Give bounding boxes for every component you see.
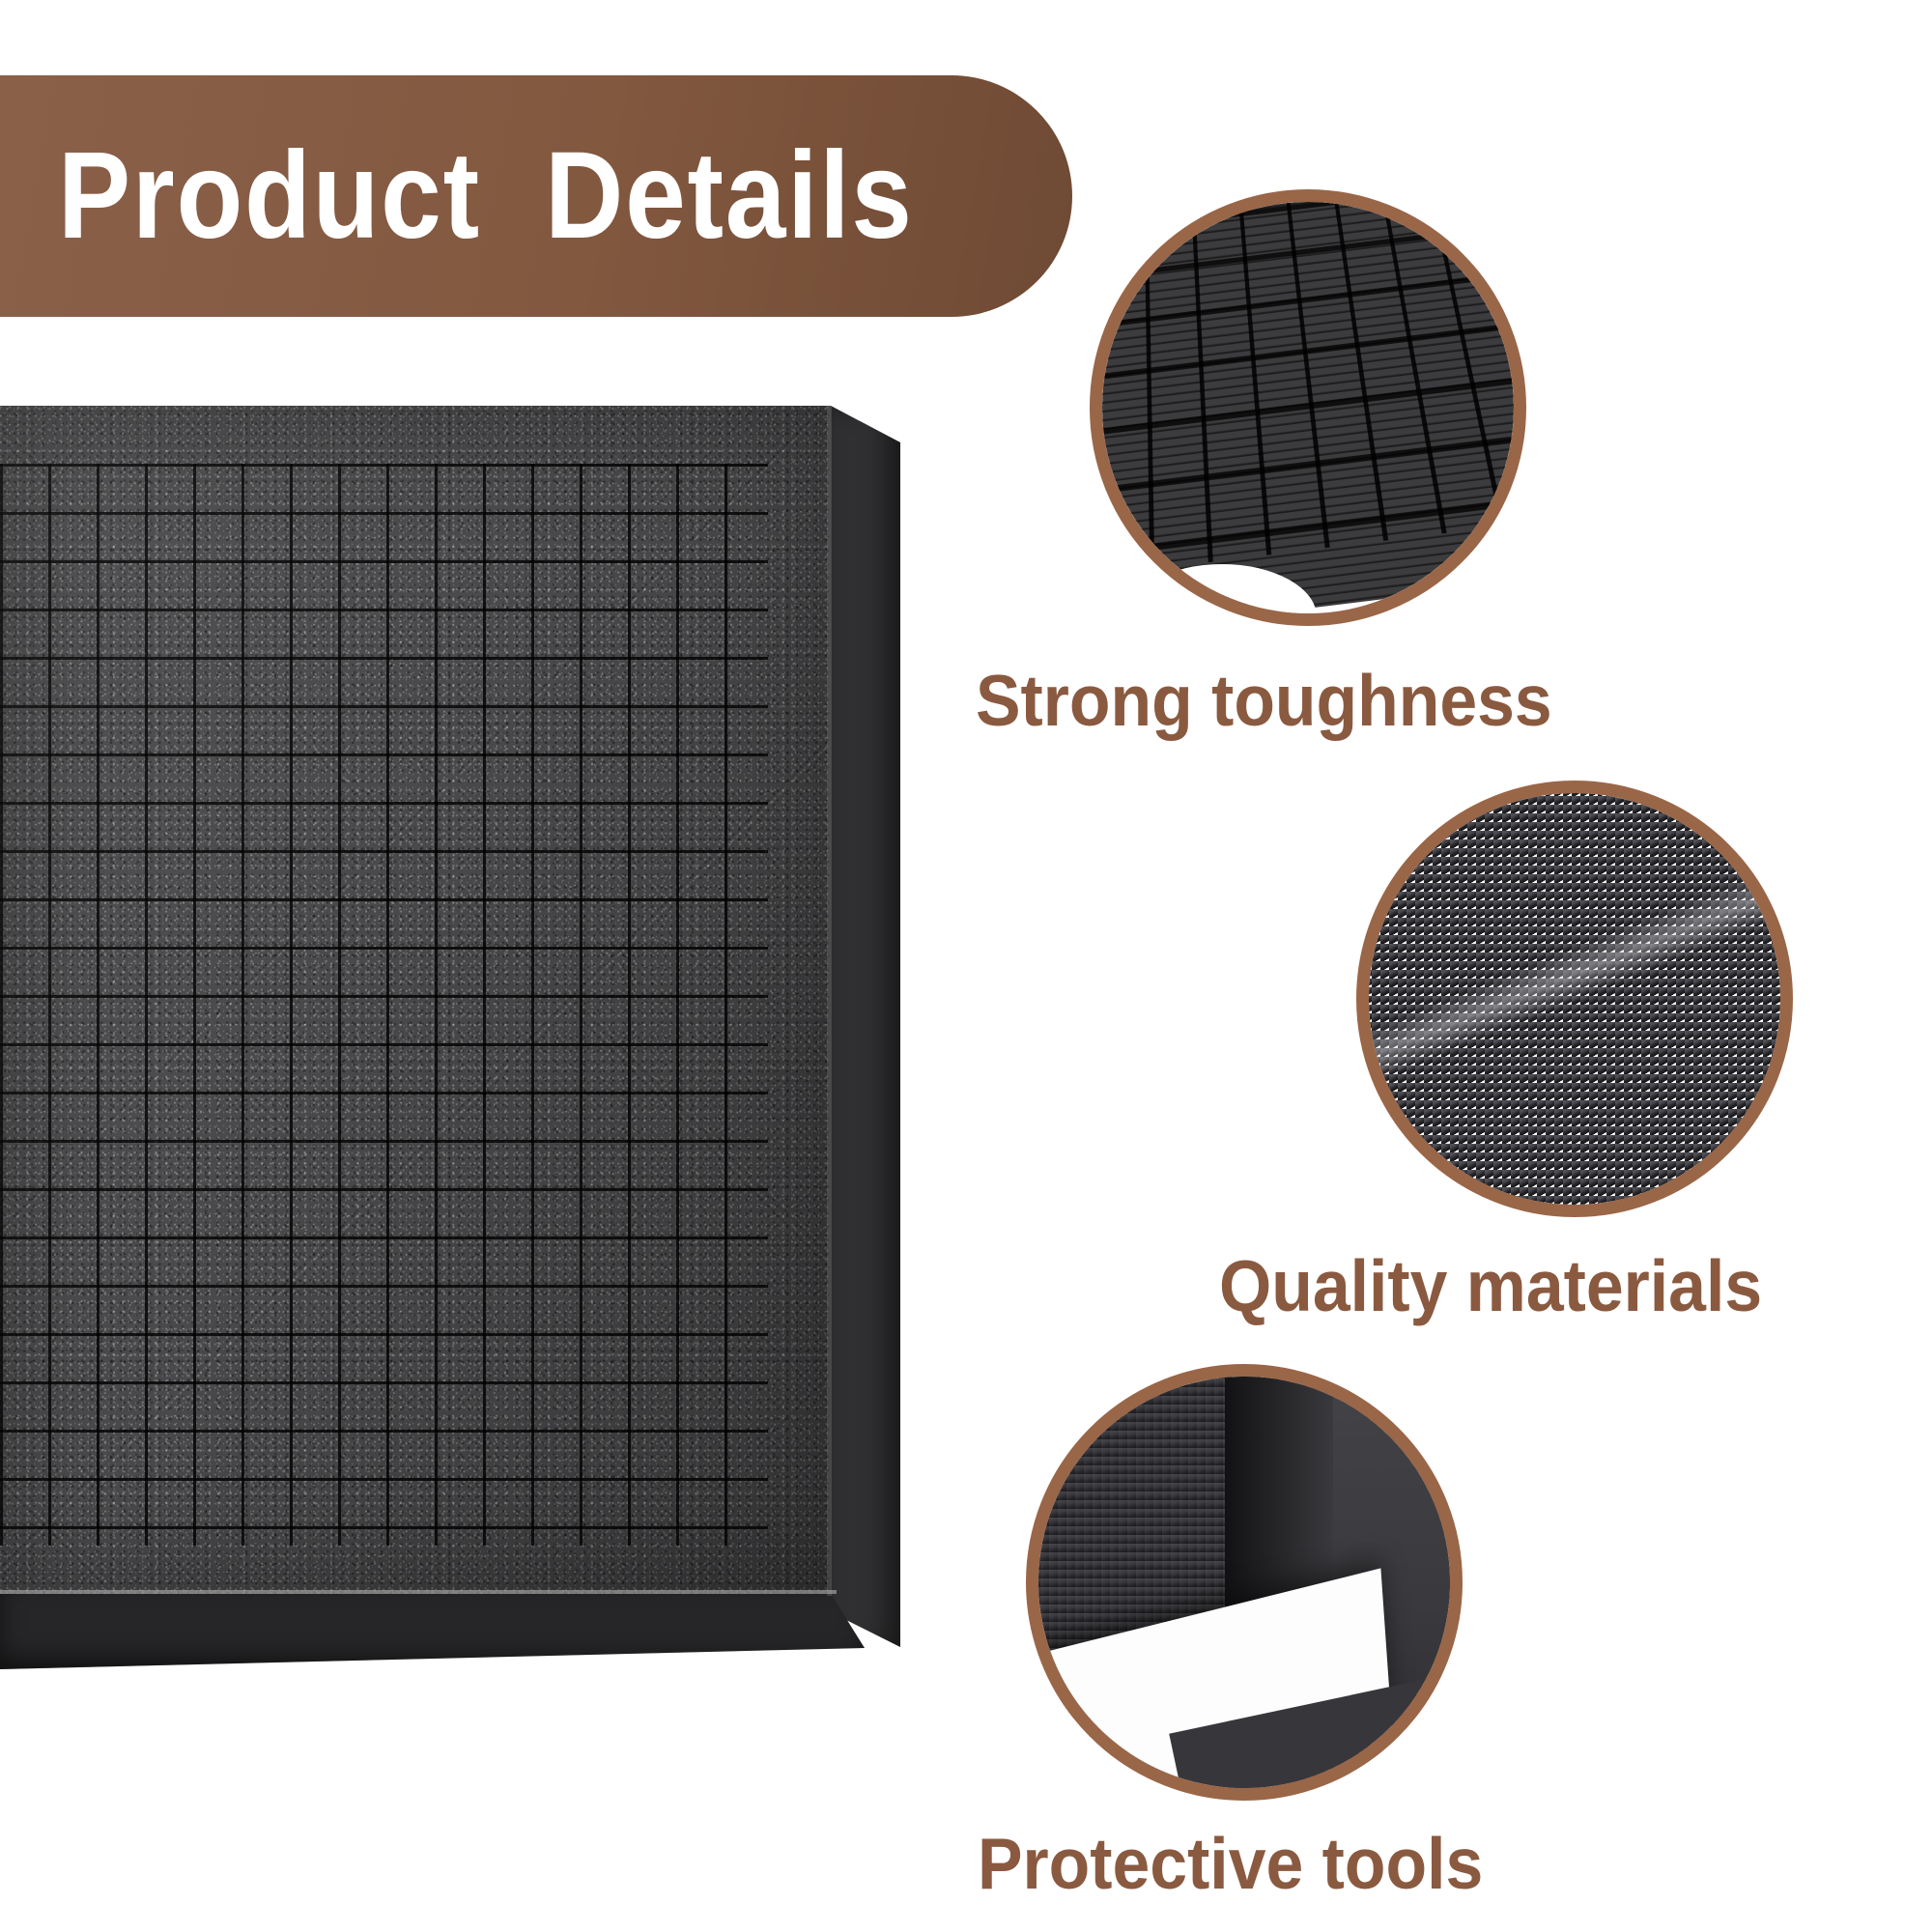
feature-image-circle <box>1026 1364 1463 1801</box>
feature-image-strong-toughness <box>1102 202 1514 613</box>
page-title-banner: Product Details <box>0 75 1072 317</box>
foam-cutout-groove-icon <box>1038 1377 1450 1788</box>
foam-pad-right-bevel <box>827 406 832 1596</box>
product-details-page: Product Details Strong toughness <box>0 0 1932 1932</box>
product-main-image <box>0 406 903 1695</box>
foam-pad-bottom-bevel <box>0 1590 837 1594</box>
foam-pad-top-surface <box>0 406 831 1594</box>
feature-label-strong-toughness: Strong toughness <box>976 665 1552 737</box>
foam-pad-right-face <box>831 406 900 1647</box>
feature-image-circle <box>1090 189 1526 626</box>
feature-label-quality-materials: Quality materials <box>1219 1250 1762 1322</box>
feature-image-quality-materials <box>1369 793 1780 1205</box>
feature-label-protective-tools: Protective tools <box>978 1828 1483 1900</box>
feature-image-protective-tools <box>1038 1377 1450 1788</box>
feature-image-circle <box>1356 781 1793 1217</box>
page-title: Product Details <box>58 134 914 258</box>
foam-grid-surface-icon <box>1102 202 1514 613</box>
foam-pad-grid-pattern <box>0 464 768 1546</box>
foam-edge-highlight <box>1369 815 1780 1111</box>
foam-block-edge-icon <box>1369 793 1780 1205</box>
foam-grid-cells <box>1102 202 1514 585</box>
foam-pad-bottom-face <box>0 1594 865 1669</box>
